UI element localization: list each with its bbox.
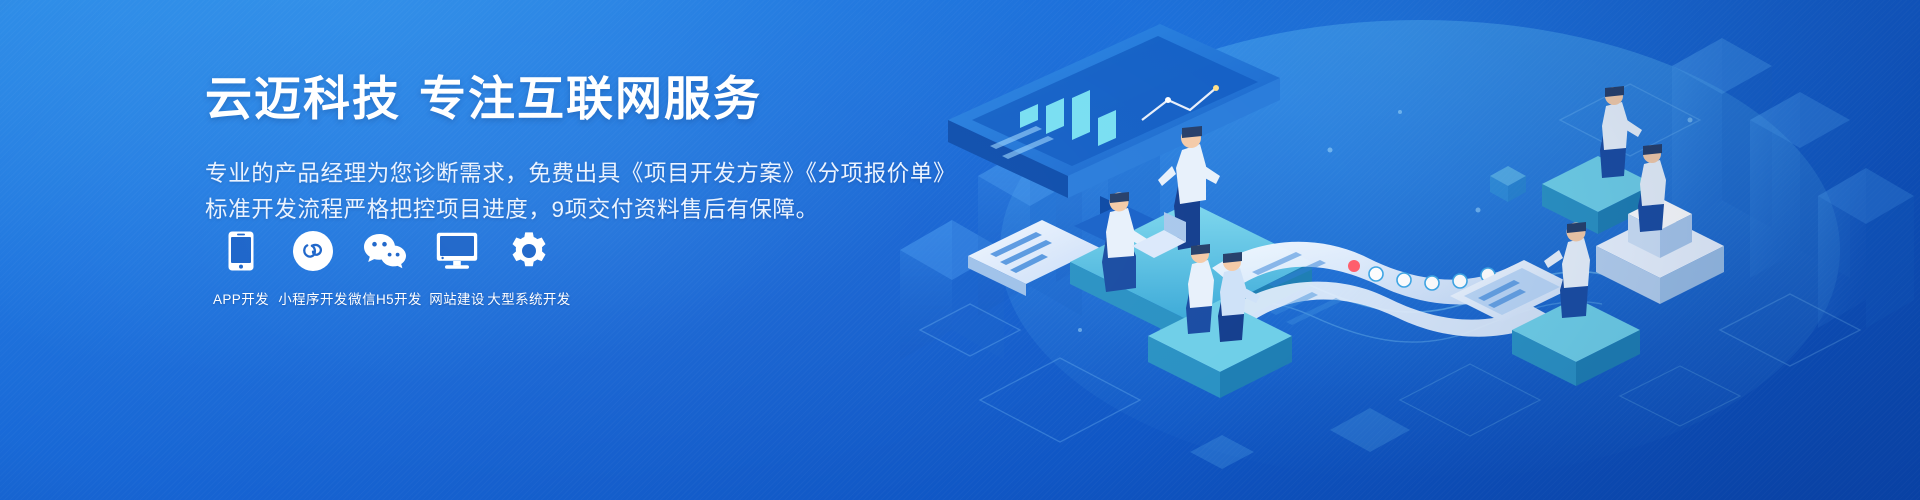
figure-mid [1638,144,1666,232]
service-item-website[interactable]: 网站建设 [421,228,493,308]
page-title: 云迈科技专注互联网服务 [205,72,905,126]
service-item-miniprogram[interactable]: 小程序开发 [277,228,349,308]
headline-brand: 云迈科技 [205,72,401,125]
service-label-enterprise-system: 大型系统开发 [487,288,570,308]
isometric-digital-team-illustration [860,0,1920,500]
figure-laptop [1102,192,1186,292]
service-label-miniprogram: 小程序开发 [278,288,348,308]
mobile-phone-icon [228,228,254,274]
headline-tagline: 专注互联网服务 [419,72,762,125]
desktop-monitor-icon [436,228,478,274]
hero-banner: 云迈科技专注互联网服务 专业的产品经理为您诊断需求，免费出具《项目开发方案》《分… [0,0,1920,500]
hero-copy: 云迈科技专注互联网服务 专业的产品经理为您诊断需求，免费出具《项目开发方案》《分… [205,72,905,229]
figure-standing [1158,126,1220,250]
gear-settings-icon [509,228,549,274]
service-item-app[interactable]: APP开发 [205,228,277,308]
service-item-enterprise-system[interactable]: 大型系统开发 [493,228,565,308]
service-item-wechat-h5[interactable]: 微信H5开发 [349,228,421,308]
wechat-chat-bubbles-icon [363,228,407,274]
figure-pair-left [1186,244,1260,342]
service-list: APP开发 小程序开发 [205,228,565,308]
hero-subtitle: 专业的产品经理为您诊断需求，免费出具《项目开发方案》《分项报价单》 标准开发流程… [205,156,905,229]
service-label-app: APP开发 [213,288,269,308]
figure-lower-right [1544,222,1590,318]
service-label-wechat-h5: 微信H5开发 [348,288,422,308]
wechat-miniprogram-icon [293,228,333,274]
subtitle-line-1: 专业的产品经理为您诊断需求，免费出具《项目开发方案》《分项报价单》 [205,156,905,192]
service-label-website: 网站建设 [429,288,485,308]
figure-upper [1600,86,1642,178]
subtitle-line-2: 标准开发流程严格把控项目进度，9项交付资料售后有保障。 [205,192,905,228]
